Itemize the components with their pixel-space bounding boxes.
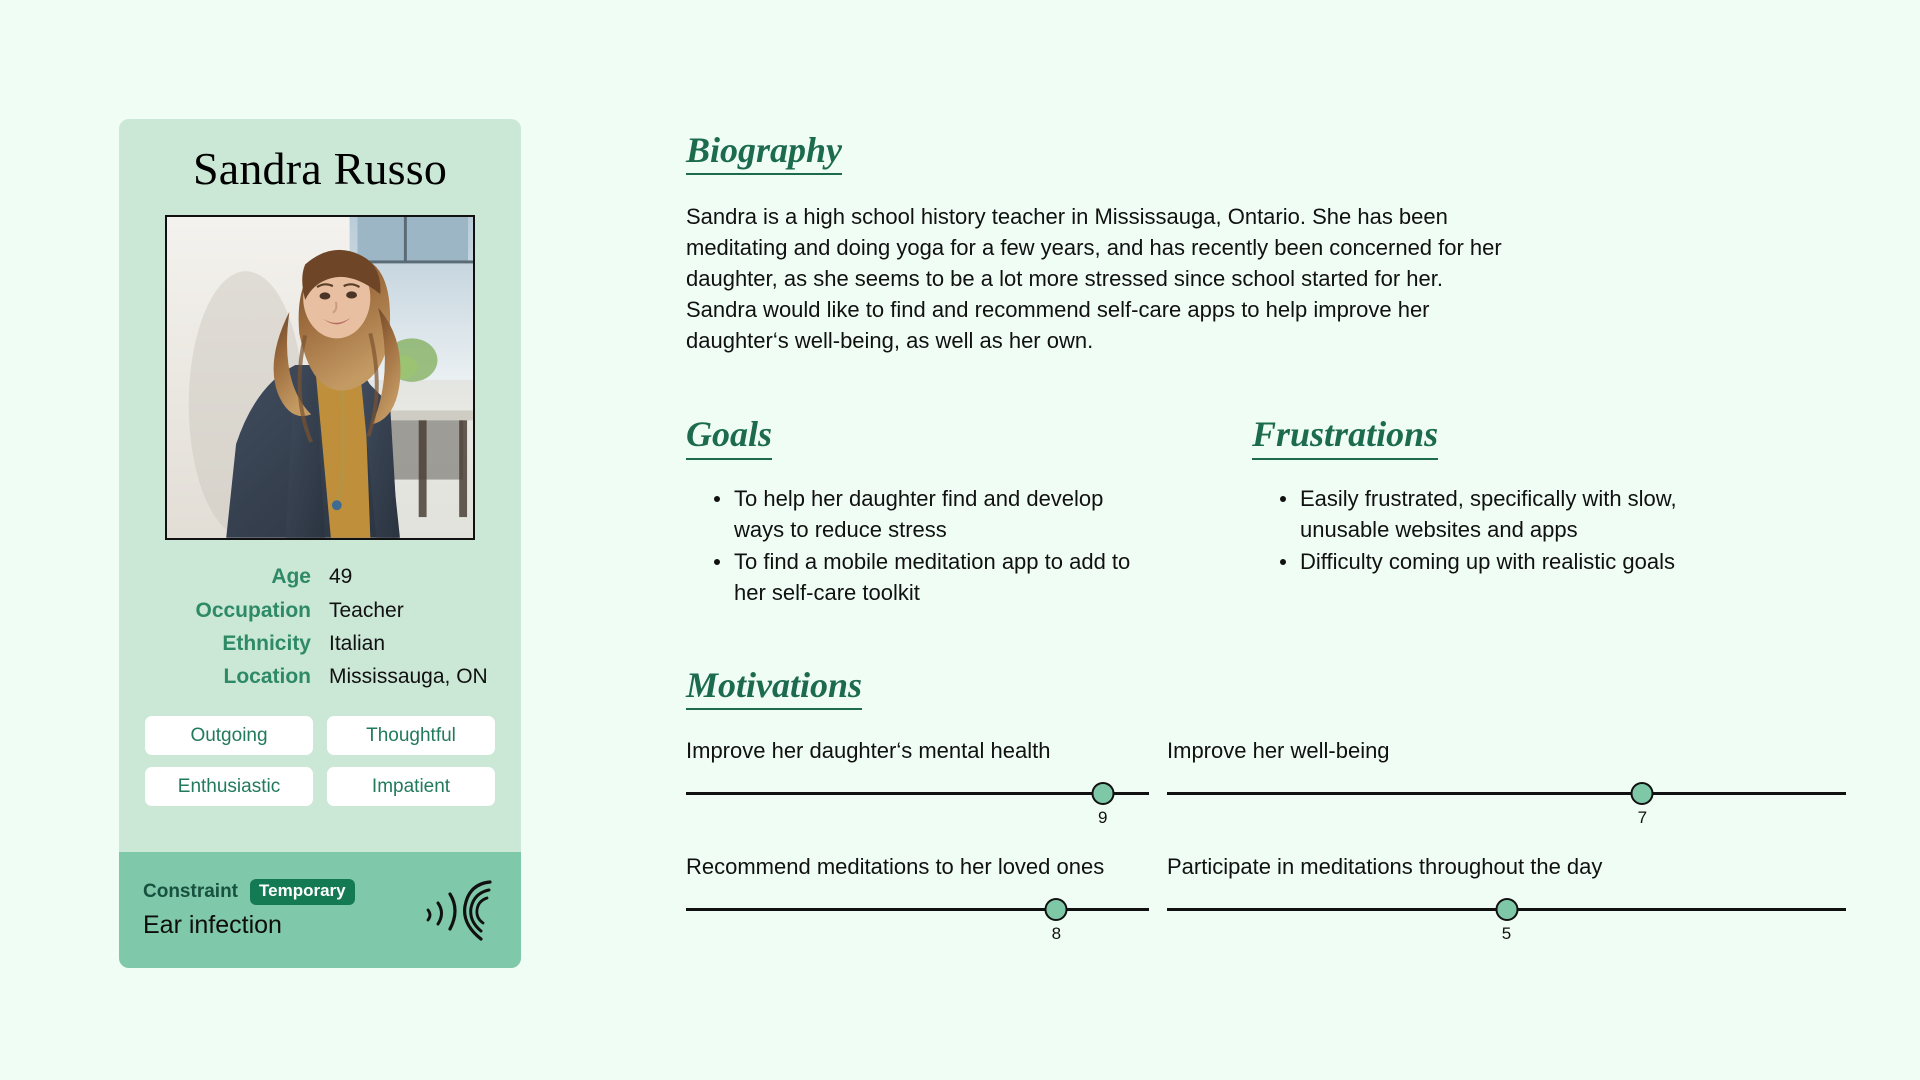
attribute-label-location: Location	[151, 664, 311, 690]
attribute-value-ethnicity: Italian	[329, 631, 499, 657]
list-item: Difficulty coming up with realistic goal…	[1278, 546, 1678, 577]
frustrations-list: Easily frustrated, specifically with slo…	[1252, 483, 1846, 577]
list-item: Easily frustrated, specifically with slo…	[1278, 483, 1678, 545]
goals-heading: Goals	[686, 414, 772, 459]
trait-chip-enthusiastic[interactable]: Enthusiastic	[145, 767, 313, 806]
ear-hearing-icon	[419, 872, 497, 946]
attribute-label-age: Age	[151, 564, 311, 590]
motivations-grid: Improve her daughter‘s mental health 9 I…	[686, 736, 1846, 936]
slider-track	[686, 792, 1149, 795]
portrait-photo-graphic	[167, 217, 473, 538]
motivation-item-3: Participate in meditations throughout th…	[1167, 852, 1846, 936]
profile-photo	[165, 215, 475, 540]
frustrations-section: Frustrations Easily frustrated, specific…	[1252, 414, 1846, 608]
slider-value: 5	[1502, 924, 1511, 944]
status-badge: Temporary	[250, 879, 355, 905]
motivation-slider[interactable]: 9	[686, 782, 1149, 820]
motivation-label: Participate in meditations throughout th…	[1167, 852, 1846, 882]
slider-track	[686, 908, 1149, 911]
slider-knob[interactable]	[1631, 782, 1654, 805]
frustrations-heading: Frustrations	[1252, 414, 1438, 459]
attributes-table: Age 49 Occupation Teacher Ethnicity Ital…	[141, 564, 499, 690]
trait-chip-outgoing[interactable]: Outgoing	[145, 716, 313, 755]
motivations-heading: Motivations	[686, 665, 862, 710]
slider-value: 9	[1098, 808, 1107, 828]
trait-chip-group: Outgoing Thoughtful Enthusiastic Impatie…	[141, 716, 499, 806]
attribute-label-occupation: Occupation	[151, 598, 311, 624]
list-item: To find a mobile meditation app to add t…	[712, 546, 1142, 608]
motivation-slider[interactable]: 5	[1167, 898, 1846, 936]
trait-chip-impatient[interactable]: Impatient	[327, 767, 495, 806]
motivation-item-1: Improve her well-being 7	[1167, 736, 1846, 820]
attribute-value-age: 49	[329, 564, 499, 590]
attribute-value-location: Mississauga, ON	[329, 664, 499, 690]
motivation-label: Recommend meditations to her loved ones	[686, 852, 1149, 882]
attribute-value-occupation: Teacher	[329, 598, 499, 624]
constraint-text: Ear infection	[143, 910, 355, 940]
list-item: To help her daughter find and develop wa…	[712, 483, 1142, 545]
constraint-info: Constraint Temporary Ear infection	[143, 879, 355, 940]
slider-knob[interactable]	[1045, 898, 1068, 921]
slider-knob[interactable]	[1495, 898, 1518, 921]
slider-knob[interactable]	[1091, 782, 1114, 805]
motivation-label: Improve her well-being	[1167, 736, 1846, 766]
constraint-band: Constraint Temporary Ear infection	[119, 852, 521, 968]
motivation-slider[interactable]: 8	[686, 898, 1149, 936]
biography-heading: Biography	[686, 130, 842, 175]
constraint-header: Constraint Temporary	[143, 879, 355, 905]
content-area: Biography Sandra is a high school histor…	[686, 130, 1846, 936]
goals-section: Goals To help her daughter find and deve…	[686, 414, 1252, 608]
profile-card-body: Sandra Russo	[119, 119, 521, 828]
motivation-item-0: Improve her daughter‘s mental health 9	[686, 736, 1149, 820]
profile-card: Sandra Russo	[119, 119, 521, 968]
goals-frustrations-row: Goals To help her daughter find and deve…	[686, 356, 1846, 608]
slider-value: 8	[1052, 924, 1061, 944]
constraint-label: Constraint	[143, 881, 238, 903]
trait-chip-thoughtful[interactable]: Thoughtful	[327, 716, 495, 755]
motivation-item-2: Recommend meditations to her loved ones …	[686, 852, 1149, 936]
biography-text: Sandra is a high school history teacher …	[686, 201, 1646, 356]
slider-track	[1167, 792, 1846, 795]
person-name: Sandra Russo	[193, 145, 447, 193]
slider-value: 7	[1638, 808, 1647, 828]
attribute-label-ethnicity: Ethnicity	[151, 631, 311, 657]
motivations-section: Motivations Improve her daughter‘s menta…	[686, 665, 1846, 936]
goals-list: To help her daughter find and develop wa…	[686, 483, 1252, 608]
biography-section: Biography Sandra is a high school histor…	[686, 130, 1846, 356]
motivation-slider[interactable]: 7	[1167, 782, 1846, 820]
motivation-label: Improve her daughter‘s mental health	[686, 736, 1149, 766]
